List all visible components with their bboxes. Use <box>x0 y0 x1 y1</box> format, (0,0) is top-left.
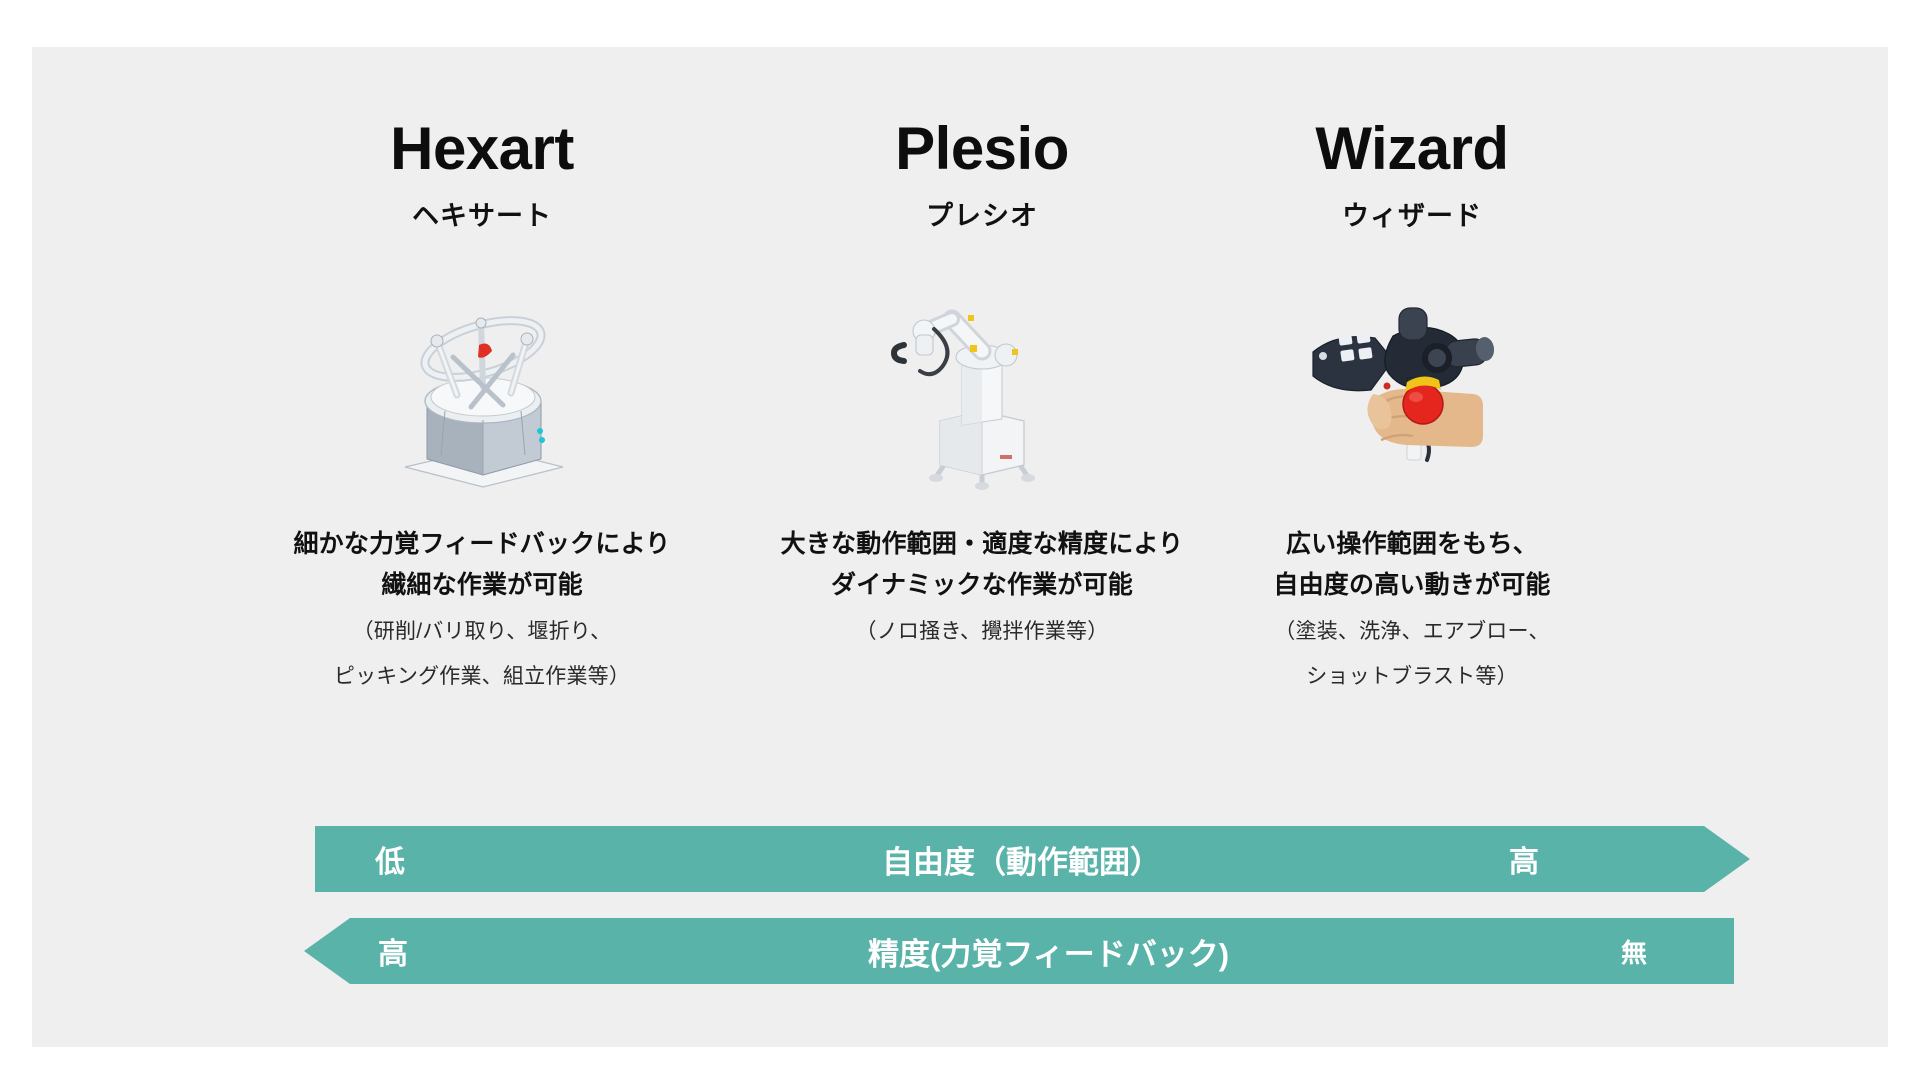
product-name: Wizard <box>1182 117 1642 180</box>
axis-start-label: 高 <box>378 929 408 973</box>
application-line-2: ピッキング作業、組立作業等） <box>252 659 712 695</box>
handheld-controller-image <box>1182 259 1642 494</box>
application-line-2: ショットブラスト等） <box>1182 659 1642 695</box>
axis-start-label: 低 <box>375 837 405 881</box>
description-line-1: 大きな動作範囲・適度な精度により <box>752 524 1212 565</box>
product-name: Hexart <box>252 117 712 180</box>
axis-title: 自由度（動作範囲） <box>882 837 1161 882</box>
application-line-1: （塗装、洗浄、エアブロー、 <box>1182 614 1642 650</box>
axis-arrow-freedom: 低 自由度（動作範囲） 高 <box>315 826 1750 892</box>
axis-end-label: 高 <box>1509 837 1539 881</box>
axis-end-label: 無 <box>1621 933 1647 970</box>
description-line-2: 自由度の高い動きが可能 <box>1182 565 1642 606</box>
articulated-robot-arm-image <box>752 259 1212 494</box>
description-line-2: ダイナミックな作業が可能 <box>752 565 1212 606</box>
product-column-wizard[interactable]: Wizard ウィザード <box>1182 117 1642 695</box>
product-description: 広い操作範囲をもち、 自由度の高い動きが可能 （塗装、洗浄、エアブロー、 ショッ… <box>1182 524 1642 695</box>
product-kana-name: ヘキサート <box>252 194 712 233</box>
product-column-hexart[interactable]: Hexart ヘキサート <box>252 117 712 695</box>
hexapod-parallel-robot-image <box>252 259 712 494</box>
product-column-plesio[interactable]: Plesio プレシオ <box>752 117 1212 659</box>
axis-title: 精度(力覚フィードバック) <box>868 929 1229 974</box>
slide-canvas: Hexart ヘキサート <box>32 47 1888 1047</box>
product-columns: Hexart ヘキサート <box>32 47 1888 777</box>
description-line-1: 広い操作範囲をもち、 <box>1182 524 1642 565</box>
application-line-1: （研削/バリ取り、堰折り、 <box>252 614 712 650</box>
product-kana-name: ウィザード <box>1182 194 1642 233</box>
product-description: 大きな動作範囲・適度な精度により ダイナミックな作業が可能 （ノロ掻き、攪拌作業… <box>752 524 1212 650</box>
description-line-2: 繊細な作業が可能 <box>252 565 712 606</box>
axis-arrow-precision: 高 精度(力覚フィードバック) 無 <box>304 918 1734 984</box>
product-name: Plesio <box>752 117 1212 180</box>
description-line-1: 細かな力覚フィードバックにより <box>252 524 712 565</box>
product-kana-name: プレシオ <box>752 194 1212 233</box>
application-line-1: （ノロ掻き、攪拌作業等） <box>752 614 1212 650</box>
product-description: 細かな力覚フィードバックにより 繊細な作業が可能 （研削/バリ取り、堰折り、 ピ… <box>252 524 712 695</box>
